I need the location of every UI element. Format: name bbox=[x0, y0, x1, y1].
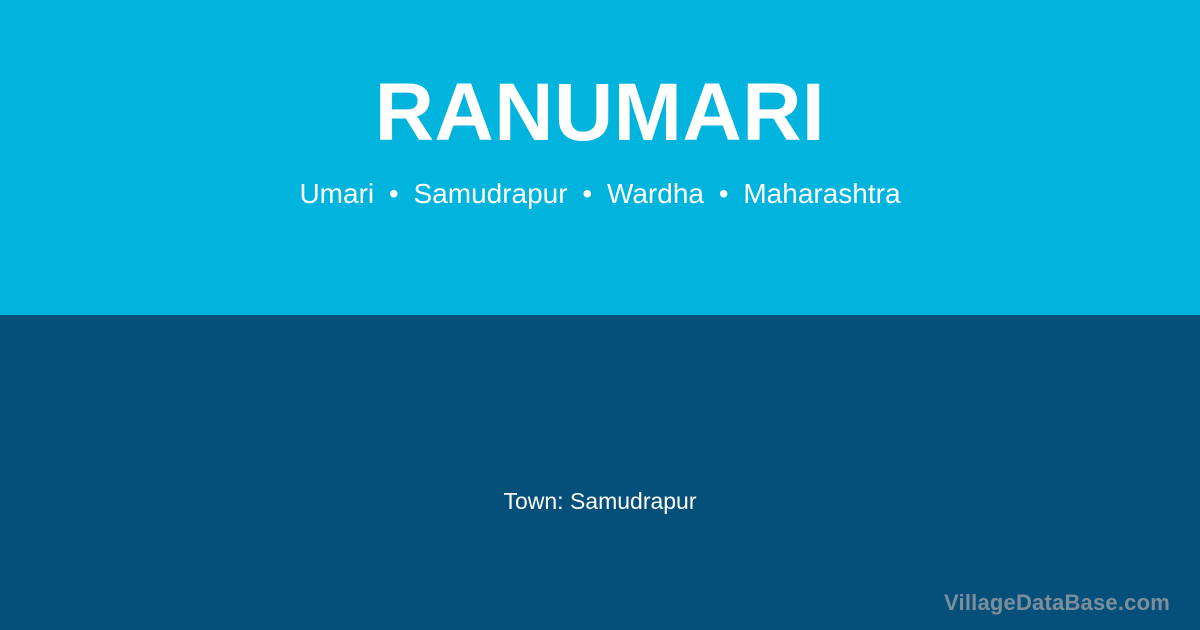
breadcrumb-separator-icon: • bbox=[575, 177, 599, 211]
breadcrumb-separator-icon: • bbox=[712, 177, 736, 211]
breadcrumb-item-village: Umari bbox=[299, 178, 374, 209]
details-panel: Town: Samudrapur VillageDataBase.com bbox=[0, 315, 1200, 630]
site-watermark: VillageDataBase.com bbox=[944, 590, 1170, 616]
breadcrumb-separator-icon: • bbox=[382, 177, 406, 211]
breadcrumb: Umari • Samudrapur • Wardha • Maharashtr… bbox=[299, 177, 900, 211]
breadcrumb-item-state: Maharashtra bbox=[743, 178, 900, 209]
header-banner: RANUMARI Umari • Samudrapur • Wardha • M… bbox=[0, 0, 1200, 315]
town-detail-text: Town: Samudrapur bbox=[0, 487, 1200, 517]
village-info-card: RANUMARI Umari • Samudrapur • Wardha • M… bbox=[0, 0, 1200, 630]
header-banner-content: RANUMARI Umari • Samudrapur • Wardha • M… bbox=[0, 0, 1200, 315]
breadcrumb-item-district: Wardha bbox=[607, 178, 704, 209]
page-title: RANUMARI bbox=[375, 72, 825, 154]
breadcrumb-item-town: Samudrapur bbox=[414, 178, 568, 209]
